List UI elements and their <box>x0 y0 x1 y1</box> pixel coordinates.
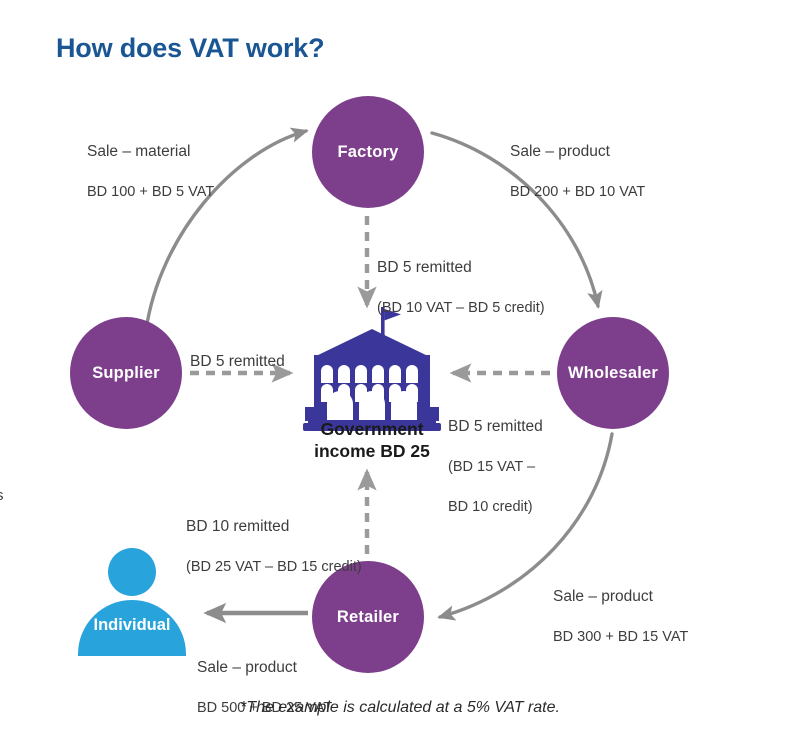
node-wholesaler[interactable]: Wholesaler <box>557 317 669 429</box>
node-supplier[interactable]: Supplier <box>70 317 182 429</box>
label-sale-material: Sale – material BD 100 + BD 5 VAT <box>87 121 214 223</box>
label-retailer-remit-line2: (BD 25 VAT – BD 15 credit) <box>186 558 362 577</box>
node-individual-label: Individual <box>72 616 192 635</box>
label-supplier-remittance: BD 5 remitted <box>190 331 285 393</box>
footnote: *The example is calculated at a 5% VAT r… <box>0 699 800 717</box>
node-supplier-label: Supplier <box>92 364 160 383</box>
label-wholesaler-remit-line1: BD 5 remitted <box>448 417 543 438</box>
label-sale-product-br-line1: Sale – product <box>553 587 688 608</box>
label-factory-remit-line2: (BD 10 VAT – BD 5 credit) <box>377 299 545 318</box>
node-wholesaler-label: Wholesaler <box>568 364 658 383</box>
label-sale-product-retailer-to-individual: Sale – product BD 500 + BD 25 VAT <box>197 637 332 737</box>
government-label-line2: income BD 25 <box>314 441 430 461</box>
label-sale-product-wholesaler-to-retailer: Sale – product BD 300 + BD 15 VAT <box>553 566 688 668</box>
label-factory-remittance: BD 5 remitted (BD 10 VAT – BD 5 credit) <box>377 237 545 339</box>
label-sale-material-line2: BD 100 + BD 5 VAT <box>87 183 214 202</box>
label-retailer-remit-line1: BD 10 remitted <box>186 517 362 538</box>
vat-diagram-page: How does VAT work? s <box>0 0 800 737</box>
node-individual[interactable]: Individual <box>72 548 192 656</box>
label-wholesaler-remit-line3: BD 10 credit) <box>448 498 543 517</box>
node-factory-label: Factory <box>337 143 398 162</box>
label-sale-product-br-line2: BD 300 + BD 15 VAT <box>553 628 688 647</box>
label-supplier-remit-line1: BD 5 remitted <box>190 352 285 373</box>
label-sale-material-line1: Sale – material <box>87 142 214 163</box>
label-wholesaler-remittance: BD 5 remitted (BD 15 VAT – BD 10 credit) <box>448 396 543 539</box>
label-sale-product-top-line1: Sale – product <box>510 142 645 163</box>
label-factory-remit-line1: BD 5 remitted <box>377 258 545 279</box>
government-income-label: Government income BD 25 <box>297 418 447 463</box>
label-sale-product-top-line2: BD 200 + BD 10 VAT <box>510 183 645 202</box>
label-sale-product-factory-to-wholesaler: Sale – product BD 200 + BD 10 VAT <box>510 121 645 223</box>
node-factory[interactable]: Factory <box>312 96 424 208</box>
label-retailer-remittance: BD 10 remitted (BD 25 VAT – BD 15 credit… <box>186 496 362 598</box>
label-wholesaler-remit-line2: (BD 15 VAT – <box>448 458 543 477</box>
node-retailer-label: Retailer <box>337 608 399 627</box>
person-head-icon <box>108 548 156 596</box>
label-sale-product-bl-line1: Sale – product <box>197 658 332 679</box>
government-label-line1: Government <box>320 419 423 439</box>
